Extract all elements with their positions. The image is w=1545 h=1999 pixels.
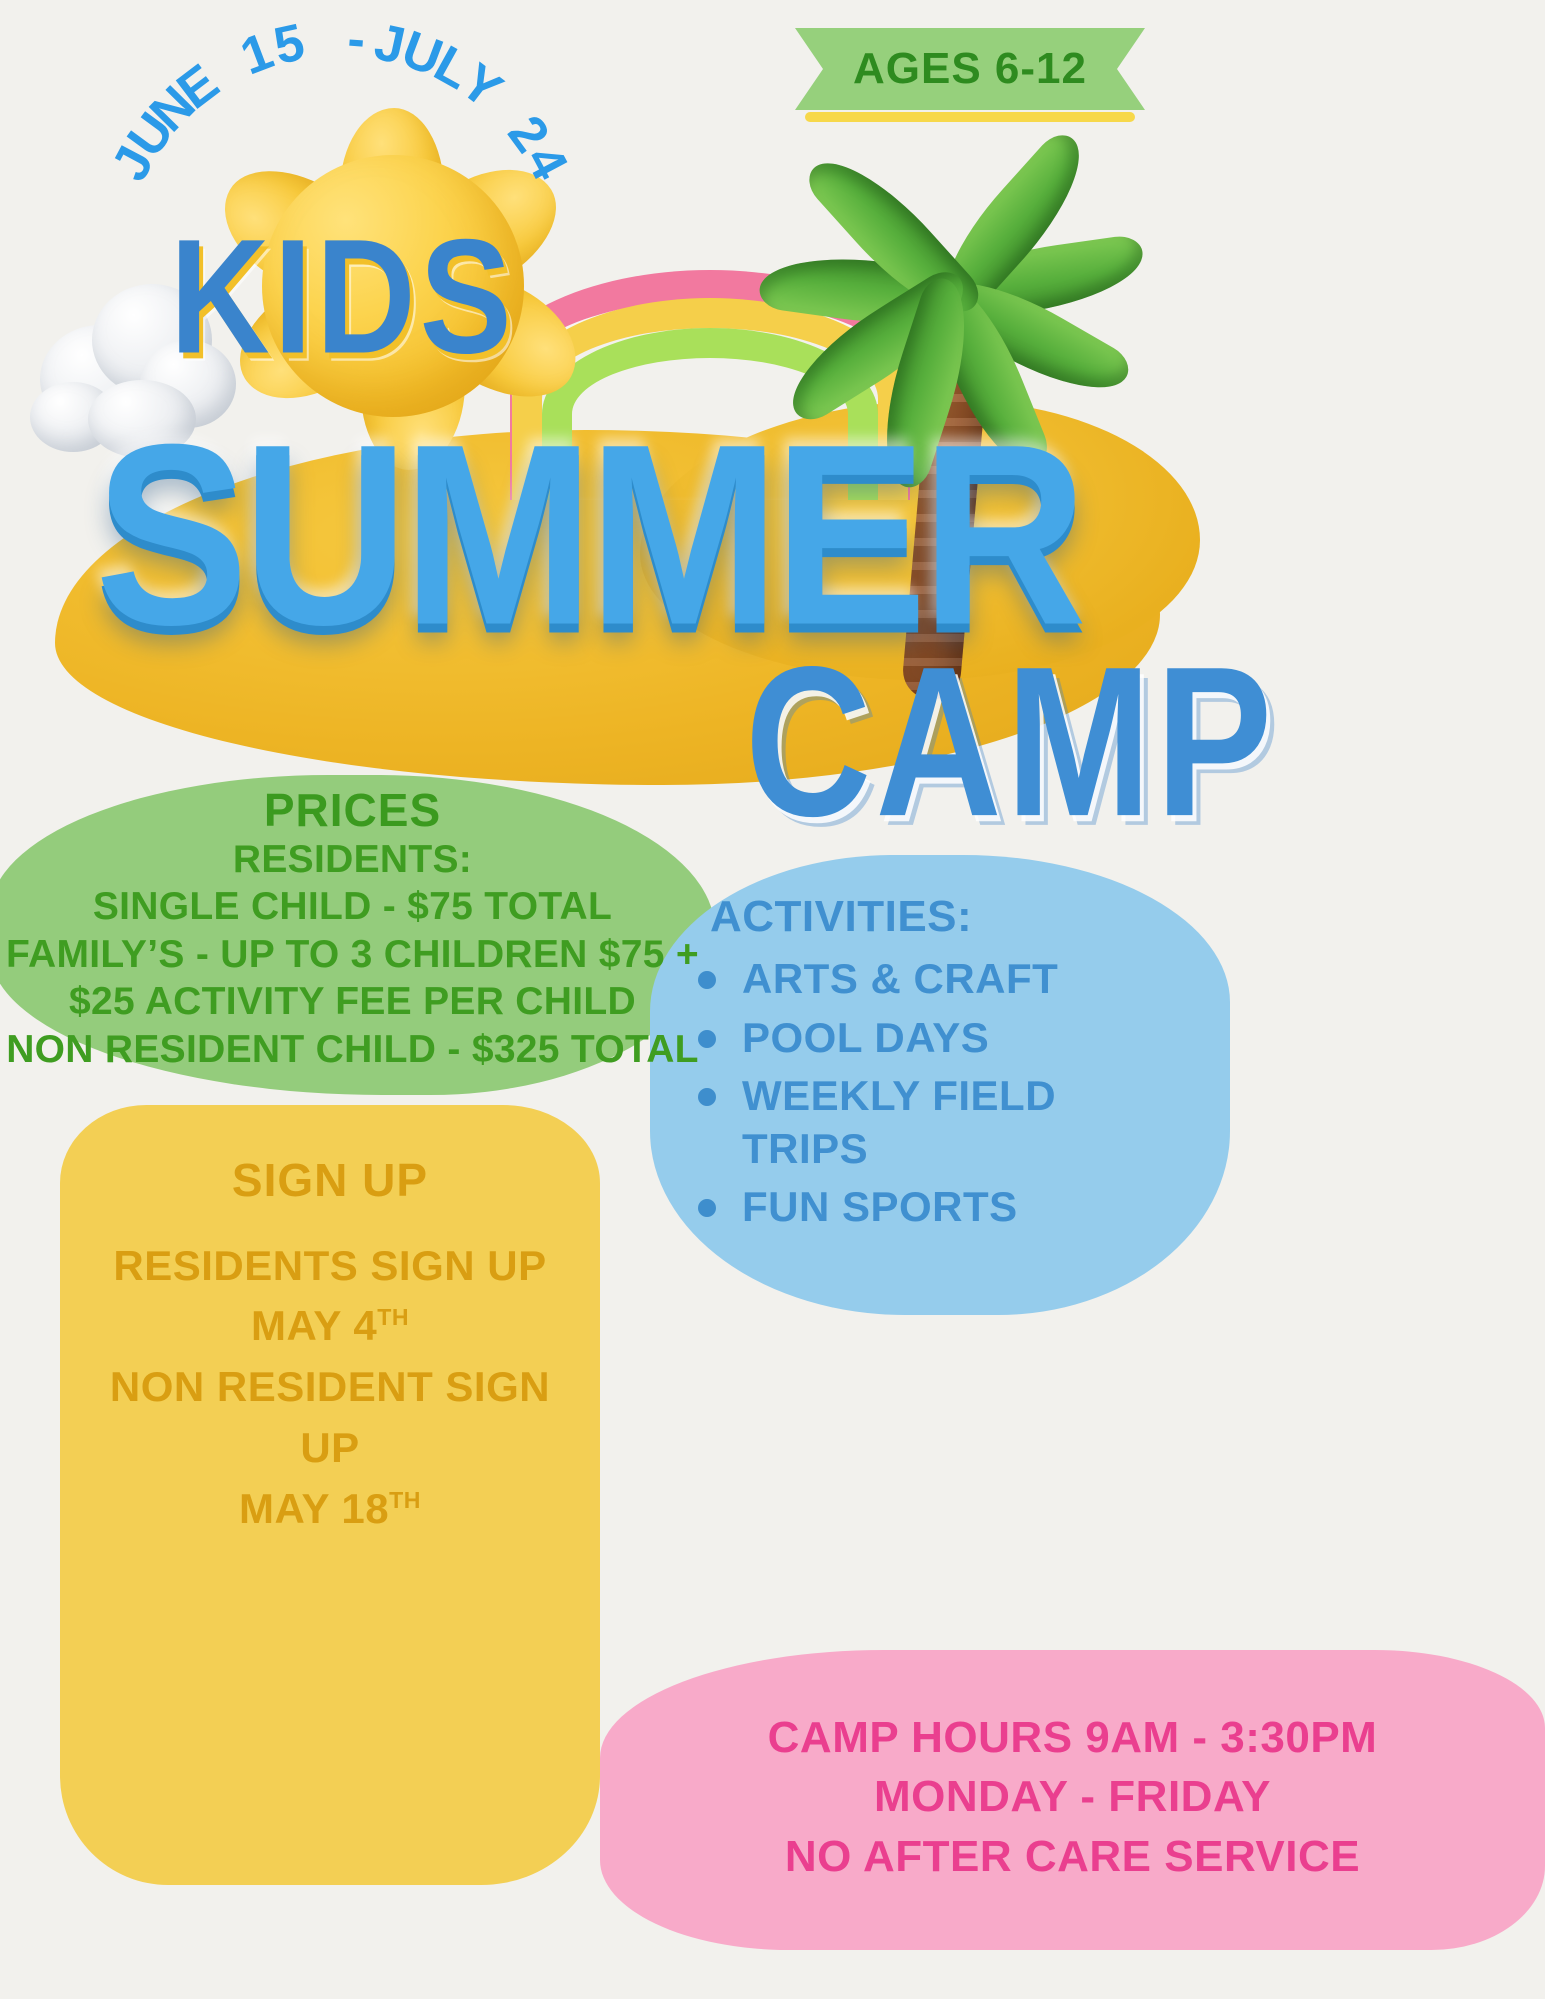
list-item: WEEKLY FIELD TRIPS (690, 1070, 1142, 1175)
signup-title: SIGN UP (60, 1105, 600, 1206)
camp-hours-line: MONDAY - FRIDAY (600, 1767, 1545, 1826)
signup-date-text: MAY 4 (251, 1302, 377, 1349)
prices-title: PRICES (0, 775, 715, 836)
list-item: POOL DAYS (690, 1012, 1142, 1065)
signup-line: RESIDENTS SIGN UP (60, 1236, 600, 1297)
prices-line: FAMILY’S - UP TO 3 CHILDREN $75 + (0, 931, 715, 979)
prices-line: NON RESIDENT CHILD - $325 TOTAL (0, 1026, 715, 1074)
title-kids: KIDS (170, 216, 516, 379)
signup-date: MAY 4TH (60, 1296, 600, 1357)
prices-line: RESIDENTS: (0, 836, 715, 884)
camp-hours-panel: CAMP HOURS 9AM - 3:30PM MONDAY - FRIDAY … (600, 1650, 1545, 1950)
activities-panel: ACTIVITIES: ARTS & CRAFT POOL DAYS WEEKL… (650, 855, 1230, 1315)
poster-canvas: JUNE 15 -JULY 24 JUNE 15 -JULY 24 KIDS S… (0, 0, 1545, 1999)
ages-badge-underline (805, 112, 1135, 122)
ages-badge-label: AGES 6-12 (853, 47, 1087, 91)
signup-line: NON RESIDENT SIGN UP (60, 1357, 600, 1479)
prices-panel: PRICES RESIDENTS: SINGLE CHILD - $75 TOT… (0, 775, 715, 1095)
date-range-char: - (346, 13, 368, 66)
activities-title: ACTIVITIES: (650, 855, 1230, 941)
prices-line: SINGLE CHILD - $75 TOTAL (0, 883, 715, 931)
date-range-char (314, 13, 333, 66)
list-item: ARTS & CRAFT (690, 953, 1142, 1006)
prices-line: $25 ACTIVITY FEE PER CHILD (0, 978, 715, 1026)
signup-date-text: MAY 18 (239, 1485, 389, 1532)
signup-date-ordinal: TH (377, 1304, 409, 1330)
activities-list: ARTS & CRAFT POOL DAYS WEEKLY FIELD TRIP… (650, 953, 1230, 1234)
list-item: FUN SPORTS (690, 1181, 1142, 1234)
camp-hours-line: CAMP HOURS 9AM - 3:30PM (600, 1708, 1545, 1767)
signup-panel: SIGN UP RESIDENTS SIGN UP MAY 4TH NON RE… (60, 1105, 600, 1885)
ages-badge: AGES 6-12 (795, 28, 1145, 110)
title-camp: CAMP (745, 636, 1276, 850)
signup-date-ordinal: TH (389, 1487, 421, 1513)
signup-date: MAY 18TH (60, 1479, 600, 1540)
camp-hours-line: NO AFTER CARE SERVICE (600, 1827, 1545, 1886)
